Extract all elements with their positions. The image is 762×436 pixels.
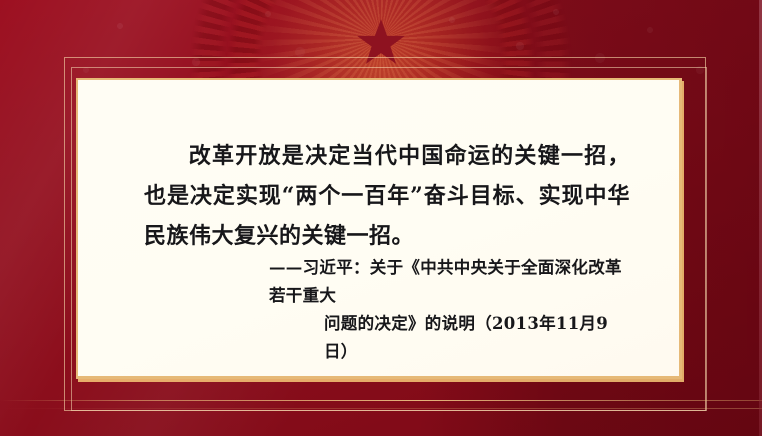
bottom-gold-rule (0, 400, 762, 401)
quote-line-3: 关键一招。 (302, 223, 415, 249)
quote-attribution: ——习近平：关于《中共中央关于全面深化改革若干重大 问题的决定》的说明（2013… (144, 254, 630, 366)
slide-root: 改革开放是决定当代中国命运的关键一招，也是决定实现“两个一百年”奋斗目标、实现中… (0, 0, 762, 436)
quote-text: 改革开放是决定当代中国命运的关键一招，也是决定实现“两个一百年”奋斗目标、实现中… (144, 136, 630, 256)
attribution-line-1: ——习近平：关于《中共中央关于全面深化改革若干重大 (144, 254, 630, 310)
quote-panel: 改革开放是决定当代中国命运的关键一招，也是决定实现“两个一百年”奋斗目标、实现中… (76, 78, 682, 379)
attribution-line-2: 问题的决定》的说明（2013年11月9日） (144, 310, 630, 366)
bottom-gold-rule-secondary (0, 408, 762, 409)
